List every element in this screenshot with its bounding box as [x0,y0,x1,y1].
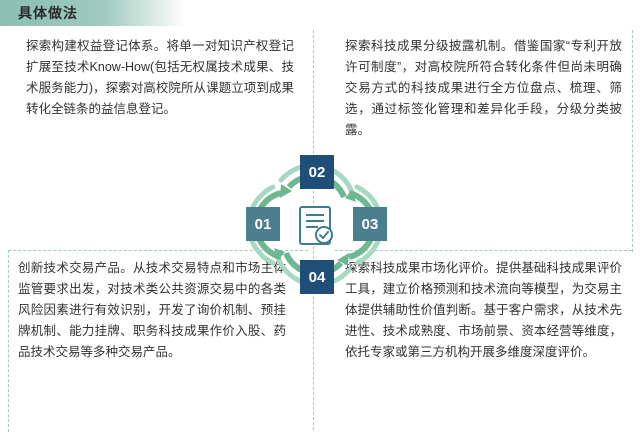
step-number-04: 04 [300,260,334,294]
page-title: 具体做法 [18,3,78,23]
process-cycle-diagram: 01 02 03 04 [240,150,390,300]
divider-vertical-right [632,30,633,252]
document-check-icon [297,205,335,247]
step-number-02: 02 [300,155,334,189]
step-number-03: 03 [353,207,387,241]
paragraph-top-right: 探索科技成果分级披露机制。借鉴国家“专利开放许可制度”，对高校院所符合转化条件但… [345,36,622,141]
divider-vertical-left [8,250,9,432]
step-number-01: 01 [246,207,280,241]
paragraph-top-left: 探索构建权益登记体系。将单一对知识产权登记扩展至技术Know-How(包括无权属… [26,36,294,120]
